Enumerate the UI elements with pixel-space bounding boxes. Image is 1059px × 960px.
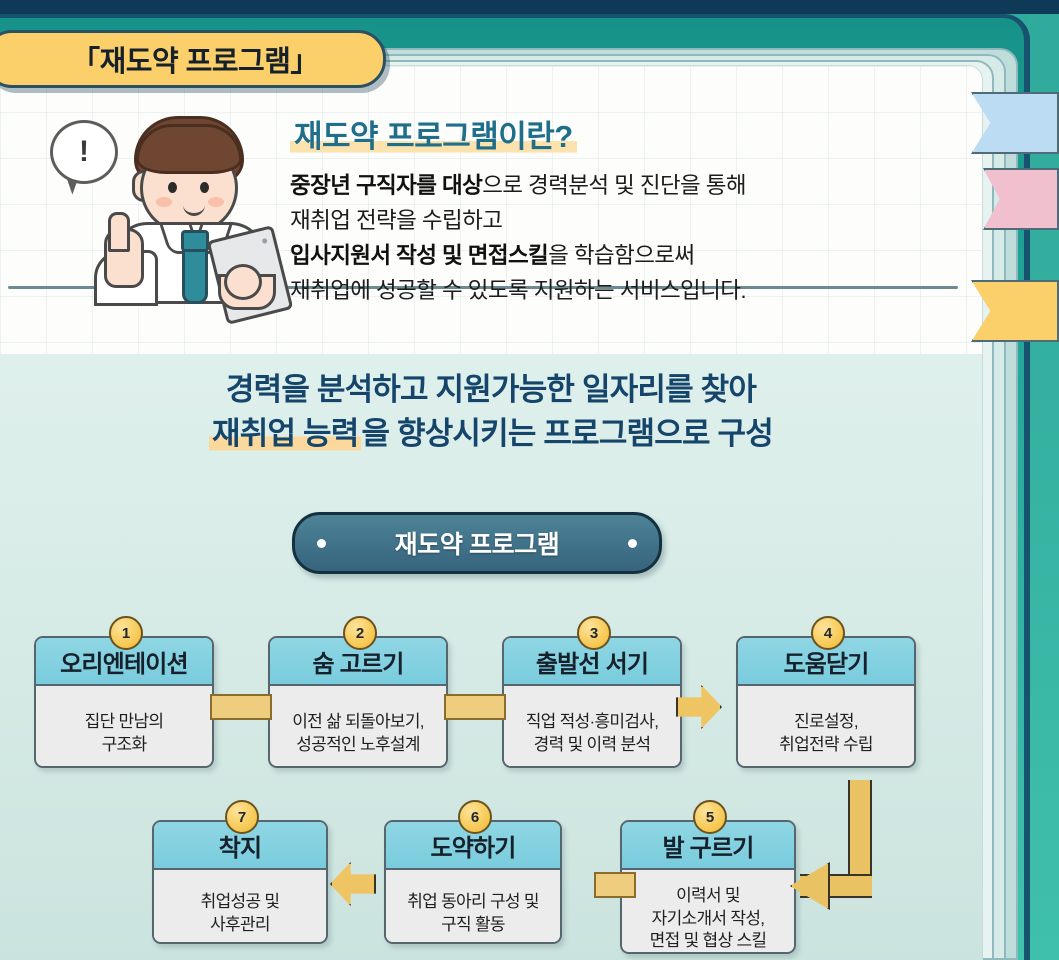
flow-badge-4-number: 4 (824, 625, 832, 642)
flow-card-5-line-3: 면접 및 협상 스킬 (650, 930, 767, 953)
flow-card-2-line-2: 성공적인 노후설계 (296, 734, 420, 757)
hand-holding-icon (224, 264, 262, 300)
flow-card-7-body: 취업성공 및 사후관리 (154, 870, 326, 944)
flow-badge-2-number: 2 (356, 625, 364, 642)
flow-badge-1: 1 (109, 616, 143, 650)
flow-card-5-line-1: 이력서 및 (676, 885, 740, 908)
flow-card-2-body: 이전 삶 되돌아보기, 성공적인 노후설계 (270, 686, 446, 768)
cheek-right-icon (208, 197, 224, 207)
flow-card-7-line-2: 사후관리 (210, 914, 270, 937)
subtitle-line-2-rest: 을 향상시키는 프로그램으로 구성 (361, 416, 773, 451)
flow-card-4[interactable]: 도움닫기 진로설정, 취업전략 수립 (736, 636, 916, 768)
character-illustration: ! (28, 104, 290, 294)
flow-badge-6: 6 (458, 800, 492, 834)
subtitle-block: 경력을 분석하고 지원가능한 일자리를 찾아 재취업 능력을 향상시키는 프로그… (0, 368, 982, 456)
connector-1-to-2 (210, 694, 272, 720)
program-banner: 재도약 프로그램 (292, 512, 662, 574)
eye-right-icon (200, 182, 209, 193)
flow-card-3-body: 직업 적성·흥미검사, 경력 및 이력 분석 (504, 686, 680, 768)
subtitle-line-2: 재취업 능력을 향상시키는 프로그램으로 구성 (0, 412, 982, 456)
tablet-camera-icon (262, 238, 268, 244)
flow-card-1-line-2: 구조화 (102, 734, 147, 757)
flow-card-4-body: 진로설정, 취업전략 수립 (738, 686, 914, 768)
exclamation-mark: ! (79, 135, 89, 169)
intro-line-4-rest: 재취업에 성공할 수 있도록 지원하는 서비스입니다. (290, 278, 746, 303)
flow-card-5-line-2: 자기소개서 작성, (652, 908, 765, 931)
flow-card-5-body: 이력서 및 자기소개서 작성, 면접 및 협상 스킬 (622, 870, 794, 954)
eye-left-icon (168, 182, 177, 193)
flow-card-5[interactable]: 발 구르기 이력서 및 자기소개서 작성, 면접 및 협상 스킬 (620, 820, 796, 954)
connector-2-to-3 (444, 694, 506, 720)
flow-card-1-body: 집단 만남의 구조화 (36, 686, 212, 768)
flow-card-3-line-1: 직업 적성·흥미검사, (526, 711, 659, 734)
flow-card-7-line-1: 취업성공 및 (201, 891, 280, 914)
flow-card-3-line-2: 경력 및 이력 분석 (534, 734, 651, 757)
intro-line-1-bold: 중장년 구직자를 대상 (290, 173, 482, 198)
intro-body: 중장년 구직자를 대상으로 경력분석 및 진단을 통해 재취업 전략을 수립하고… (290, 168, 890, 308)
flow-card-1[interactable]: 오리엔테이션 집단 만남의 구조화 (34, 636, 214, 768)
title-tab: 「재도약 프로그램」 (0, 30, 386, 88)
intro-line-3: 입사지원서 작성 및 면접스킬을 학습함으로써 (290, 238, 890, 273)
flow-badge-5-number: 5 (706, 809, 714, 826)
cover-top-strip (0, 0, 1059, 14)
intro-line-2: 재취업 전략을 수립하고 (290, 203, 890, 238)
flow-card-2-line-1: 이전 삶 되돌아보기, (292, 711, 424, 734)
intro-line-4: 재취업에 성공할 수 있도록 지원하는 서비스입니다. (290, 273, 890, 308)
flow-card-3[interactable]: 출발선 서기 직업 적성·흥미검사, 경력 및 이력 분석 (502, 636, 682, 768)
flow-card-6[interactable]: 도약하기 취업 동아리 구성 및 구직 활동 (384, 820, 562, 944)
banner-dot-left-icon (317, 539, 326, 548)
cheek-left-icon (156, 197, 172, 207)
flow-badge-5: 5 (693, 800, 727, 834)
flow-card-2[interactable]: 숨 고르기 이전 삶 되돌아보기, 성공적인 노후설계 (268, 636, 448, 768)
flow-badge-4: 4 (811, 616, 845, 650)
flow-card-7[interactable]: 착지 취업성공 및 사후관리 (152, 820, 328, 944)
program-banner-label: 재도약 프로그램 (395, 525, 560, 561)
flow-card-6-line-2: 구직 활동 (441, 914, 505, 937)
intro-line-1: 중장년 구직자를 대상으로 경력분석 및 진단을 통해 (290, 168, 890, 203)
intro-line-3-bold: 입사지원서 작성 및 면접스킬 (290, 243, 548, 268)
exclamation-speech-bubble: ! (50, 120, 118, 184)
intro-line-1-rest: 으로 경력분석 및 진단을 통해 (482, 173, 746, 198)
connector-5-to-6 (594, 872, 636, 898)
flow-card-6-line-1: 취업 동아리 구성 및 (407, 891, 539, 914)
flow-card-4-line-2: 취업전략 수립 (779, 734, 873, 757)
title-tab-label: 「재도약 프로그램」 (51, 38, 319, 80)
index-finger-icon (108, 212, 130, 252)
flow-badge-7-number: 7 (238, 809, 246, 826)
hair-front-icon (136, 124, 242, 174)
flow-card-1-line-1: 집단 만남의 (85, 711, 164, 734)
intro-line-2-rest: 재취업 전략을 수립하고 (290, 208, 502, 233)
banner-dot-right-icon (628, 539, 637, 548)
subtitle-line-1: 경력을 분석하고 지원가능한 일자리를 찾아 (0, 368, 982, 412)
necktie-knot-icon (181, 230, 209, 252)
flow-badge-7: 7 (225, 800, 259, 834)
subtitle-highlight: 재취업 능력 (209, 416, 361, 451)
flow-card-6-body: 취업 동아리 구성 및 구직 활동 (386, 870, 560, 944)
intro-heading: 재도약 프로그램이란? (290, 120, 577, 154)
slide-root: 「재도약 프로그램」 ! 재도약 프로그램이란? 중장년 (0, 0, 1059, 960)
flow-badge-6-number: 6 (471, 809, 479, 826)
flow-badge-1-number: 1 (122, 625, 130, 642)
flow-badge-3: 3 (577, 616, 611, 650)
flow-badge-3-number: 3 (590, 625, 598, 642)
intro-line-3-rest: 을 학습함으로써 (548, 243, 694, 268)
flow-badge-2: 2 (343, 616, 377, 650)
flow-card-4-line-1: 진로설정, (794, 711, 858, 734)
intro-block: 재도약 프로그램이란? 중장년 구직자를 대상으로 경력분석 및 진단을 통해 … (290, 120, 890, 308)
